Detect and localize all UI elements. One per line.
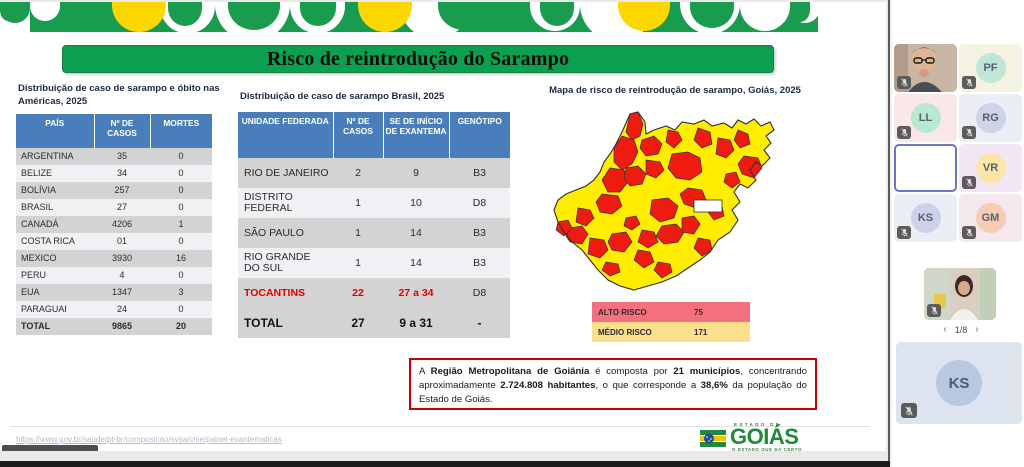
- table-row: DISTRITO FEDERAL110D8: [238, 188, 510, 218]
- cell-se: 14: [383, 218, 449, 248]
- table-row: RIO DE JANEIRO29B3: [238, 158, 510, 188]
- callout-text-4: , o que corresponde a: [595, 380, 700, 391]
- banner-arcs-icon: [0, 2, 830, 32]
- col-unidade-federada: UNIDADE FEDERADA: [238, 112, 333, 158]
- cell-casos: 1: [333, 248, 383, 278]
- cell-casos: 4: [94, 267, 150, 284]
- cell-total: TOTAL: [16, 318, 94, 335]
- pager-label: 1/8: [955, 325, 968, 335]
- table-row: CANADÁ42061: [16, 216, 212, 233]
- participant-tile-rg[interactable]: RG: [959, 94, 1022, 142]
- cell-casos: 4206: [94, 216, 150, 233]
- cell-pais: ARGENTINA: [16, 148, 94, 165]
- callout-text-2: é composta por: [589, 366, 673, 377]
- avatar: KS: [911, 203, 941, 233]
- logo-sub-text: O ESTADO QUE DÁ CERTO: [732, 447, 825, 451]
- mic-muted-icon: [897, 76, 911, 89]
- col-pais: PAÍS: [16, 114, 94, 148]
- cell-uf: TOCANTINS: [238, 278, 333, 308]
- cell-casos: 01: [94, 233, 150, 250]
- cell-uf: RIO DE JANEIRO: [238, 158, 333, 188]
- cell-casos: 257: [94, 182, 150, 199]
- cell-casos: 24: [94, 301, 150, 318]
- goias-flag-icon: [700, 428, 728, 450]
- col-genotipo: GENÓTIPO: [449, 112, 510, 158]
- cell-total: 20: [150, 318, 212, 335]
- cell-se: 10: [383, 188, 449, 218]
- taskchip-label: Franca: [8, 450, 33, 452]
- callout-text-1: A: [419, 366, 431, 377]
- cell-casos: 34: [94, 165, 150, 182]
- legend-row-alto-risco: ALTO RISCO 75: [592, 302, 750, 322]
- meeting-screen: Risco de reintrodução do Sarampo Distrib…: [0, 0, 1024, 467]
- cell-genotipo: B3: [449, 218, 510, 248]
- table-row: RIO GRANDE DO SUL114B3: [238, 248, 510, 278]
- callout-bold-4: 38,6%: [701, 380, 728, 391]
- map-legend: ALTO RISCO 75 MÉDIO RISCO 171: [592, 302, 750, 342]
- cell-pais: PERU: [16, 267, 94, 284]
- participant-tile-active-speaker[interactable]: KS: [896, 342, 1022, 424]
- cell-se: 9: [383, 158, 449, 188]
- mic-muted-icon: [962, 126, 976, 139]
- participant-tile-ks[interactable]: KS: [894, 194, 957, 242]
- cell-mortes: 3: [150, 284, 212, 301]
- mic-muted-icon: [897, 126, 911, 139]
- callout-box: A Região Metropolitana de Goiânia é comp…: [409, 358, 817, 410]
- participant-tile-pf[interactable]: PF: [959, 44, 1022, 92]
- table-row: BOLÍVIA2570: [16, 182, 212, 199]
- participant-tile-vr[interactable]: VR: [959, 144, 1022, 192]
- cell-total-genotipo: -: [449, 308, 510, 338]
- col-mortes: MORTES: [150, 114, 212, 148]
- cell-mortes: 0: [150, 267, 212, 284]
- page-title: Risco de reintrodução do Sarampo: [267, 48, 569, 71]
- caption-brasil: Distribuição de caso de sarampo Brasil, …: [240, 90, 500, 103]
- legend-value-alto-risco: 75: [686, 308, 750, 317]
- cell-mortes: 0: [150, 301, 212, 318]
- cell-casos: 2: [333, 158, 383, 188]
- logo-main-text: GOIÁS: [730, 427, 825, 447]
- mic-muted-icon: [962, 176, 976, 189]
- participant-tile-video-2[interactable]: [924, 268, 996, 320]
- mic-muted-icon: [962, 226, 976, 239]
- participant-tile-gm[interactable]: GM: [959, 194, 1022, 242]
- caption-americas: Distribuição de caso de sarampo e óbito …: [18, 82, 223, 108]
- screen-bottom-strip: [0, 461, 890, 467]
- cell-mortes: 0: [150, 182, 212, 199]
- legend-label-medio-risco: MÉDIO RISCO: [592, 328, 686, 337]
- cell-pais: PARAGUAI: [16, 301, 94, 318]
- table-row: EUA13473: [16, 284, 212, 301]
- callout-bold-2: 21 municípios: [673, 366, 740, 377]
- table-row: PARAGUAI240: [16, 301, 212, 318]
- table-header-row: UNIDADE FEDERADA Nº DE CASOS SE DE INÍCI…: [238, 112, 510, 158]
- avatar: PF: [976, 53, 1006, 83]
- participant-rail: PFLLRGVRKSGM ‹ 1/8 › KS: [892, 0, 1024, 467]
- cell-mortes: 0: [150, 199, 212, 216]
- decorative-banner: [0, 2, 830, 40]
- goias-logo: ESTADO DE GOIÁS O ESTADO QUE DÁ CERTO: [700, 422, 825, 451]
- cell-uf: DISTRITO FEDERAL: [238, 188, 333, 218]
- table-americas: PAÍS Nº DE CASOS MORTES ARGENTINA350BELI…: [16, 114, 212, 335]
- shared-screen-stage[interactable]: Risco de reintrodução do Sarampo Distrib…: [0, 0, 890, 467]
- mic-muted-icon: [962, 76, 976, 89]
- cell-casos: 35: [94, 148, 150, 165]
- table-header-row: PAÍS Nº DE CASOS MORTES: [16, 114, 212, 148]
- participant-tile-selected-4[interactable]: [894, 144, 957, 192]
- goias-map-icon: [542, 110, 828, 298]
- risk-map-goias: [542, 110, 828, 298]
- cell-pais: BELIZE: [16, 165, 94, 182]
- cell-total: 9865: [94, 318, 150, 335]
- table-row: PERU40: [16, 267, 212, 284]
- cell-pais: COSTA RICA: [16, 233, 94, 250]
- mic-muted-icon: [897, 226, 911, 239]
- table-total-row: TOTAL986520: [16, 318, 212, 335]
- tile-pager[interactable]: ‹ 1/8 ›: [922, 324, 1000, 335]
- avatar: RG: [976, 103, 1006, 133]
- cell-pais: BOLÍVIA: [16, 182, 94, 199]
- callout-bold-3: 2.724.808 habitantes: [500, 380, 595, 391]
- cell-casos: 27: [94, 199, 150, 216]
- col-se-exantema: SE DE INÍCIO DE EXANTEMA: [383, 112, 449, 158]
- table-row: BRASIL270: [16, 199, 212, 216]
- cell-casos: 3930: [94, 250, 150, 267]
- cell-se: 14: [383, 248, 449, 278]
- table-total-row: TOTAL279 a 31-: [238, 308, 510, 338]
- cell-mortes: 0: [150, 148, 212, 165]
- source-url-link[interactable]: https://www.gov.br/saude/pt-br/composica…: [16, 435, 376, 444]
- cell-genotipo: D8: [449, 278, 510, 308]
- col-casos: Nº DE CASOS: [333, 112, 383, 158]
- avatar: VR: [976, 153, 1006, 183]
- table-brasil: UNIDADE FEDERADA Nº DE CASOS SE DE INÍCI…: [238, 112, 510, 338]
- mic-muted-icon: [927, 304, 941, 317]
- cell-total-uf: TOTAL: [238, 308, 333, 338]
- table-row: COSTA RICA010: [16, 233, 212, 250]
- table-row: MEXICO393016: [16, 250, 212, 267]
- cell-total-se: 9 a 31: [383, 308, 449, 338]
- pager-prev-icon[interactable]: ‹: [943, 324, 946, 335]
- cell-pais: MEXICO: [16, 250, 94, 267]
- cell-total-casos: 27: [333, 308, 383, 338]
- cell-casos: 1347: [94, 284, 150, 301]
- participant-tile-grid: PFLLRGVRKSGM: [894, 44, 1024, 244]
- taskchip-plus: +: [53, 450, 58, 452]
- col-casos: Nº DE CASOS: [94, 114, 150, 148]
- taskchip-dash: —: [39, 450, 47, 452]
- avatar: GM: [976, 203, 1006, 233]
- avatar: LL: [911, 103, 941, 133]
- mic-muted-icon: [901, 403, 917, 418]
- pager-next-icon[interactable]: ›: [975, 324, 978, 335]
- cell-casos: 1: [333, 218, 383, 248]
- legend-value-medio-risco: 171: [686, 328, 750, 337]
- cell-mortes: 0: [150, 233, 212, 250]
- cell-mortes: 0: [150, 165, 212, 182]
- legend-row-medio-risco: MÉDIO RISCO 171: [592, 322, 750, 342]
- participant-tile-video-0[interactable]: [894, 44, 957, 92]
- cell-genotipo: B3: [449, 158, 510, 188]
- cell-mortes: 16: [150, 250, 212, 267]
- cell-pais: CANADÁ: [16, 216, 94, 233]
- participant-tile-ll[interactable]: LL: [894, 94, 957, 142]
- table-row: TOCANTINS2227 a 34D8: [238, 278, 510, 308]
- caption-mapa: Mapa de risco de reintrodução de sarampo…: [540, 84, 810, 97]
- cell-genotipo: B3: [449, 248, 510, 278]
- cell-se: 27 a 34: [383, 278, 449, 308]
- avatar: KS: [936, 360, 982, 406]
- table-row: BELIZE340: [16, 165, 212, 182]
- cell-mortes: 1: [150, 216, 212, 233]
- table-row: ARGENTINA350: [16, 148, 212, 165]
- cell-pais: BRASIL: [16, 199, 94, 216]
- cell-uf: SÃO PAULO: [238, 218, 333, 248]
- presentation-slide: Risco de reintrodução do Sarampo Distrib…: [0, 2, 886, 451]
- cell-casos: 22: [333, 278, 383, 308]
- slide-title-banner: Risco de reintrodução do Sarampo: [62, 45, 774, 73]
- cell-casos: 1: [333, 188, 383, 218]
- taskbar-chip[interactable]: Franca — +: [2, 445, 98, 451]
- cell-genotipo: D8: [449, 188, 510, 218]
- cell-uf: RIO GRANDE DO SUL: [238, 248, 333, 278]
- callout-bold-1: Região Metropolitana de Goiânia: [431, 366, 590, 377]
- table-row: SÃO PAULO114B3: [238, 218, 510, 248]
- legend-label-alto-risco: ALTO RISCO: [592, 308, 686, 317]
- cell-pais: EUA: [16, 284, 94, 301]
